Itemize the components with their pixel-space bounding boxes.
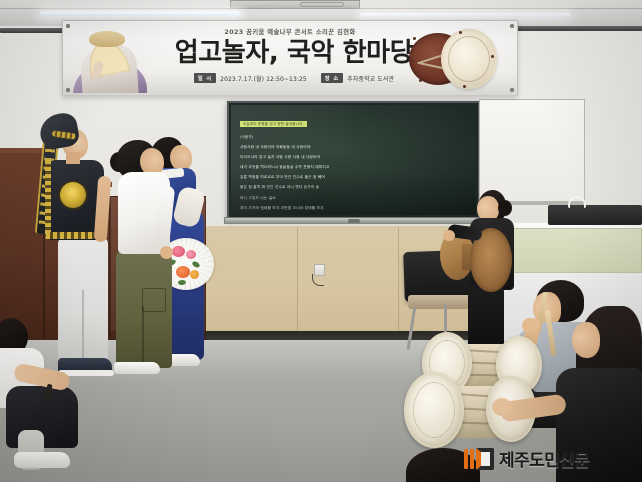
ceiling-diffuser <box>300 2 344 7</box>
podium-top-edge <box>0 148 46 153</box>
student1-neck <box>66 152 80 164</box>
instructor-hair-bun <box>498 200 512 216</box>
newspaper-logo-icon <box>464 447 494 471</box>
monitor-rear <box>548 205 642 225</box>
wood-panel-seam <box>398 228 399 336</box>
wall-rail-left <box>0 28 64 33</box>
student2-hand <box>160 246 173 259</box>
buk-peg <box>411 59 414 62</box>
fan-flower <box>172 246 185 257</box>
student1-pants-seam <box>82 290 84 362</box>
logo-box <box>476 448 494 470</box>
ceiling-light-left <box>40 11 240 16</box>
student1-gold-medallion <box>60 182 86 208</box>
slide-lyric-line: 이리오너라 업고 놀자 사랑 사랑 사랑 내 사랑이야 <box>240 152 467 162</box>
audience-sandal-left <box>14 452 70 468</box>
buk-peg <box>491 55 494 58</box>
buk-peg <box>463 85 466 88</box>
student2-cargo-pocket <box>142 288 166 312</box>
fan-flower <box>190 270 199 279</box>
student2-sandal <box>114 362 160 374</box>
buk-head-ring <box>448 36 490 82</box>
watermark-text: 제주도민신문 <box>499 446 589 471</box>
banner-date-chip: 일 시 <box>194 73 216 83</box>
banner-place-chip: 장 소 <box>321 73 343 83</box>
ceiling-light-right <box>360 13 570 17</box>
slide-lyric-line: 아장아장 걸어라 걷는 태를 보자 방긋 웃어라 잇속을 보자 <box>240 213 467 215</box>
janggu-head-hoop <box>413 382 455 438</box>
banner-place-text: 추자중학교 도서관 <box>347 74 394 83</box>
instructor-hand <box>443 230 455 241</box>
drummer-girl-head <box>572 322 600 358</box>
banner-date-group: 일 시 2023.7.17.(월) 12:50~13:25 <box>194 73 307 83</box>
banner-buk-drum-illustration <box>401 27 501 91</box>
slide-lyric-line: 저리 가거라 뒷태를 보자 이만큼 오너라 앞태를 보자 <box>240 203 467 213</box>
partition-fabric-panel <box>500 228 642 273</box>
student1-vest-trim <box>45 160 51 238</box>
slide-lyric-line: 사랑사랑 내 사랑이야 어화둥둥 내 사랑이야 <box>240 142 467 152</box>
wood-panel-seam <box>297 228 298 336</box>
banner-place-group: 장 소 추자중학교 도서관 <box>321 73 394 83</box>
screen-bar-knob <box>348 219 360 223</box>
slide-heading: 오늘부터 운명을 믿고 한번 놀아봅시다. <box>240 121 307 127</box>
student2-pants-seam <box>142 306 144 366</box>
fan-flower <box>176 266 190 278</box>
slide-surface: 오늘부터 운명을 믿고 한번 놀아봅시다. (사랑가) 사랑사랑 내 사랑이야 … <box>231 105 476 215</box>
monitor-stand <box>568 196 586 208</box>
event-banner: 2023 꿈키움 예술나무 콘서트 소리꾼 김현화 업고놀자, 국악 한마당 일… <box>62 20 518 96</box>
drummer-girl-hand <box>492 398 512 416</box>
logo-bar <box>470 449 474 469</box>
buk-peg <box>459 31 462 34</box>
slide-lyric-line: 아니 그것도 나는 싫소 <box>240 193 467 203</box>
banner-date-text: 2023.7.17.(월) 12:50~13:25 <box>220 74 307 83</box>
buk-peg <box>419 79 422 82</box>
slide-lyric-line: 강릉 백청을 따르르르 부어 반간 진수로 불근 점 뺴여 <box>240 172 467 182</box>
slide-subheading: (사랑가) <box>240 134 467 142</box>
newspaper-watermark: 제주도민신문 <box>464 446 589 471</box>
slide-lyric-line: 붉은 점 흠벅 떠 반간 진수로 아나 옛다 숟가락 술 <box>240 182 467 192</box>
banner-grommet <box>510 88 514 92</box>
banner-meta-row: 일 시 2023.7.17.(월) 12:50~13:25 장 소 추자중학교 … <box>159 73 429 83</box>
fan-flower <box>186 250 196 259</box>
logo-bar <box>464 449 468 469</box>
projector-screen: 오늘부터 운명을 믿고 한번 놀아봅시다. (사랑가) 사랑사랑 내 사랑이야 … <box>227 101 480 219</box>
photograph-scene: 오늘부터 운명을 믿고 한번 놀아봅시다. (사랑가) 사랑사랑 내 사랑이야 … <box>0 0 642 482</box>
slide-lyric-line: 네가 무엇을 먹으려느냐 둥글둥글 수박 웃봉지 떼띠리고 <box>240 162 467 172</box>
podium-left <box>0 150 44 340</box>
buk-peg <box>413 37 416 40</box>
banner-main-title: 업고놀자, 국악 한마당 <box>159 37 429 69</box>
wall-rail-right <box>516 26 642 31</box>
whiteboard <box>479 99 585 203</box>
